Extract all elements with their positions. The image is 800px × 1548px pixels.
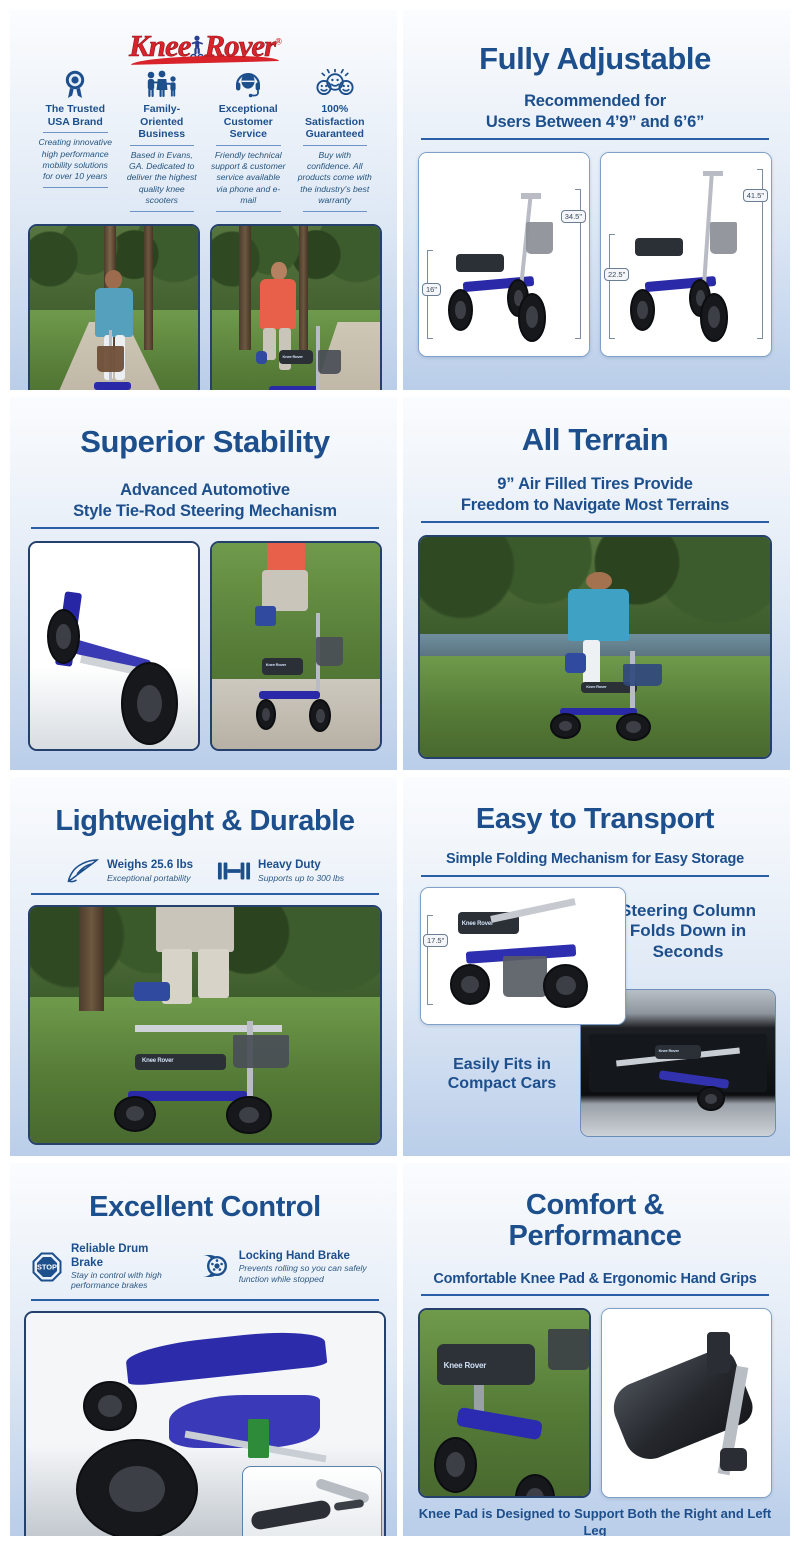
feature-title: Locking Hand Brake — [239, 1250, 380, 1263]
feature-text: Weighs 25.6 lbs Exceptional portability — [107, 859, 193, 883]
badge-exceptional-customer-service: Exceptional Customer Service Friendly te… — [205, 67, 292, 216]
panel-easy-to-transport: Easy to Transport Simple Folding Mechani… — [400, 774, 790, 1162]
product-logo-tag: Knee Rover — [142, 1058, 173, 1064]
logo-text-knee: Knee — [129, 28, 190, 63]
badge-trusted-usa-brand: The Trusted USA Brand Creating innovativ… — [32, 67, 119, 216]
panel-comfort-performance: Comfort & Performance Comfortable Knee P… — [400, 1162, 790, 1536]
panel-excellent-control: Excellent Control STOP Reliable Drum Bra… — [10, 1162, 400, 1536]
badge-title: 100% Satisfaction Guaranteed — [297, 103, 374, 141]
adjustable-photo-row: 16" 34.5" 22.5" 4 — [414, 152, 776, 357]
row-separator — [10, 390, 790, 397]
photo-woman-on-scooter-sidewalk — [28, 224, 200, 394]
badge-description: Buy with confidence. All products come w… — [297, 150, 374, 207]
divider — [31, 527, 379, 529]
photo-scooter-highest-setting: 22.5" 41.5" — [600, 152, 772, 357]
feature-hand-brake: Locking Hand Brake Prevents rolling so y… — [198, 1243, 380, 1291]
row-separator — [10, 1156, 790, 1163]
divider — [303, 145, 368, 146]
divider — [421, 1294, 769, 1296]
feature-desc: Supports up to 300 lbs — [258, 873, 344, 884]
control-features: STOP Reliable Drum Brake Stay in control… — [24, 1237, 386, 1291]
dimension-knee-pad-low: 16" — [422, 283, 441, 296]
feature-text: Heavy Duty Supports up to 300 lbs — [258, 859, 344, 883]
page-title: Superior Stability — [24, 425, 386, 458]
photo-knee-pad-closeup: Knee Rover — [418, 1308, 591, 1498]
headset-support-icon — [210, 67, 287, 99]
page-title: Easy to Transport — [414, 804, 776, 835]
comfort-photo-row: Knee Rover — [414, 1308, 776, 1498]
photo-hand-brake-lever — [242, 1466, 382, 1536]
dimension-handle-low: 34.5" — [561, 210, 586, 223]
badge-family-oriented-business: Family-Oriented Business Based in Evans,… — [119, 67, 206, 216]
subtitle: Recommended for Users Between 4’9” and 6… — [414, 91, 776, 131]
product-logo-tag: Knee Rover — [462, 921, 493, 927]
subtitle: Comfortable Knee Pad & Ergonomic Hand Gr… — [414, 1271, 776, 1289]
badge-description: Based in Evans, GA. Dedicated to deliver… — [124, 150, 201, 207]
feature-desc: Exceptional portability — [107, 873, 193, 884]
feature-drum-brake: STOP Reliable Drum Brake Stay in control… — [30, 1243, 180, 1291]
callout-compact-cars: Easily Fits in Compact Cars — [424, 1055, 580, 1093]
brake-disc-icon — [198, 1253, 232, 1281]
badge-satisfaction-guaranteed: 100% Satisfaction Guaranteed Buy with co… — [292, 67, 379, 216]
subtitle: 9” Air Filled Tires Provide Freedom to N… — [414, 474, 776, 514]
callout-steering-column: Steering Column Folds Down in Seconds — [606, 901, 770, 962]
badge-title: The Trusted USA Brand — [37, 103, 114, 128]
hero-photo-row: Knee Rover — [24, 224, 386, 394]
feature-weight: Weighs 25.6 lbs Exceptional portability — [66, 857, 193, 885]
transport-collage: 17.5" Knee Rover Steering Column Folds D… — [414, 887, 776, 1137]
badge-title: Family-Oriented Business — [124, 103, 201, 141]
dimension-folded-height: 17.5" — [423, 934, 448, 947]
page-title: All Terrain — [414, 423, 776, 456]
panel-all-terrain: All Terrain 9” Air Filled Tires Provide … — [400, 393, 790, 774]
photo-scooter-lowest-setting: 16" 34.5" — [418, 152, 590, 357]
divider — [31, 893, 379, 895]
badge-title: Exceptional Customer Service — [210, 103, 287, 141]
page-title: Fully Adjustable — [414, 42, 776, 75]
photo-man-kneeling-on-scooter: Knee Rover — [210, 541, 382, 751]
infographic-sheet: Knee Rover® — [0, 0, 800, 1548]
award-ribbon-icon — [37, 67, 114, 99]
panel-lightweight-durable: Lightweight & Durable Weighs 25.6 lbs Ex… — [10, 774, 400, 1162]
divider — [421, 875, 769, 877]
trust-badges: The Trusted USA Brand Creating innovativ… — [24, 61, 386, 216]
divider — [216, 211, 281, 212]
subtitle: Advanced Automotive Style Tie-Rod Steeri… — [24, 480, 386, 520]
feature-desc: Stay in control with high performance br… — [71, 1270, 180, 1291]
product-logo-tag: Knee Rover — [283, 354, 303, 359]
divider — [303, 211, 368, 212]
dimension-knee-pad-high: 22.5" — [604, 268, 629, 281]
family-icon — [124, 67, 201, 99]
logo-text-rover: Rover — [204, 28, 275, 63]
page-title: Comfort & Performance — [414, 1190, 776, 1253]
photo-woman-on-grass-by-lake: Knee Rover — [418, 535, 772, 759]
lightweight-photo-wrap: Knee Rover — [24, 905, 386, 1145]
badge-description: Creating innovative high performance mob… — [37, 137, 114, 182]
photo-man-on-scooter-lawn: Knee Rover — [210, 224, 382, 394]
photo-ergonomic-hand-grip — [601, 1308, 772, 1498]
brand-logo: Knee Rover® — [24, 16, 386, 61]
photo-man-lifting-scooter: Knee Rover — [28, 905, 382, 1145]
smiley-faces-icon — [297, 67, 374, 99]
feature-text: Locking Hand Brake Prevents rolling so y… — [239, 1250, 380, 1285]
control-collage — [24, 1311, 386, 1536]
logo-registered-mark: ® — [275, 37, 281, 47]
feature-title: Heavy Duty — [258, 859, 344, 872]
comfort-footnote: Knee Pad is Designed to Support Both the… — [414, 1506, 776, 1536]
divider — [421, 138, 769, 140]
divider — [43, 132, 108, 133]
row-separator — [10, 770, 790, 777]
feature-capacity: Heavy Duty Supports up to 300 lbs — [217, 857, 344, 885]
panel-superior-stability: Superior Stability Advanced Automotive S… — [10, 393, 400, 774]
product-logo-tag: Knee Rover — [266, 662, 286, 667]
panel-fully-adjustable: Fully Adjustable Recommended for Users B… — [400, 10, 790, 393]
subtitle: Simple Folding Mechanism for Easy Storag… — [414, 851, 776, 869]
lightweight-features: Weighs 25.6 lbs Exceptional portability … — [24, 851, 386, 885]
page-title: Excellent Control — [24, 1192, 386, 1223]
divider — [130, 145, 195, 146]
feature-title: Reliable Drum Brake — [71, 1243, 180, 1269]
feather-icon — [66, 857, 100, 885]
divider — [421, 521, 769, 523]
divider — [130, 211, 195, 212]
feature-desc: Prevents rolling so you can safely funct… — [239, 1263, 380, 1284]
product-logo-tag: Knee Rover — [659, 1048, 679, 1053]
product-logo-tag: Knee Rover — [586, 684, 606, 689]
dumbbell-icon — [217, 857, 251, 885]
feature-title: Weighs 25.6 lbs — [107, 859, 193, 872]
divider — [43, 187, 108, 188]
stop-sign-icon: STOP — [30, 1253, 64, 1281]
divider — [31, 1299, 379, 1301]
all-terrain-photo-wrap: Knee Rover — [414, 535, 776, 759]
photo-folded-scooter: 17.5" Knee Rover — [420, 887, 626, 1025]
feature-text: Reliable Drum Brake Stay in control with… — [71, 1243, 180, 1291]
svg-text:STOP: STOP — [37, 1263, 57, 1272]
panel-grid: Knee Rover® — [10, 10, 790, 1536]
page-title: Lightweight & Durable — [24, 806, 386, 837]
badge-description: Friendly technical support & customer se… — [210, 150, 287, 207]
dimension-handle-high: 41.5" — [743, 189, 768, 202]
photo-tie-rod-steering-closeup — [28, 541, 200, 751]
divider — [216, 145, 281, 146]
product-logo-tag: Knee Rover — [444, 1361, 486, 1370]
panel-brand-header: Knee Rover® — [10, 10, 400, 393]
stability-photo-row: Knee Rover — [24, 541, 386, 751]
